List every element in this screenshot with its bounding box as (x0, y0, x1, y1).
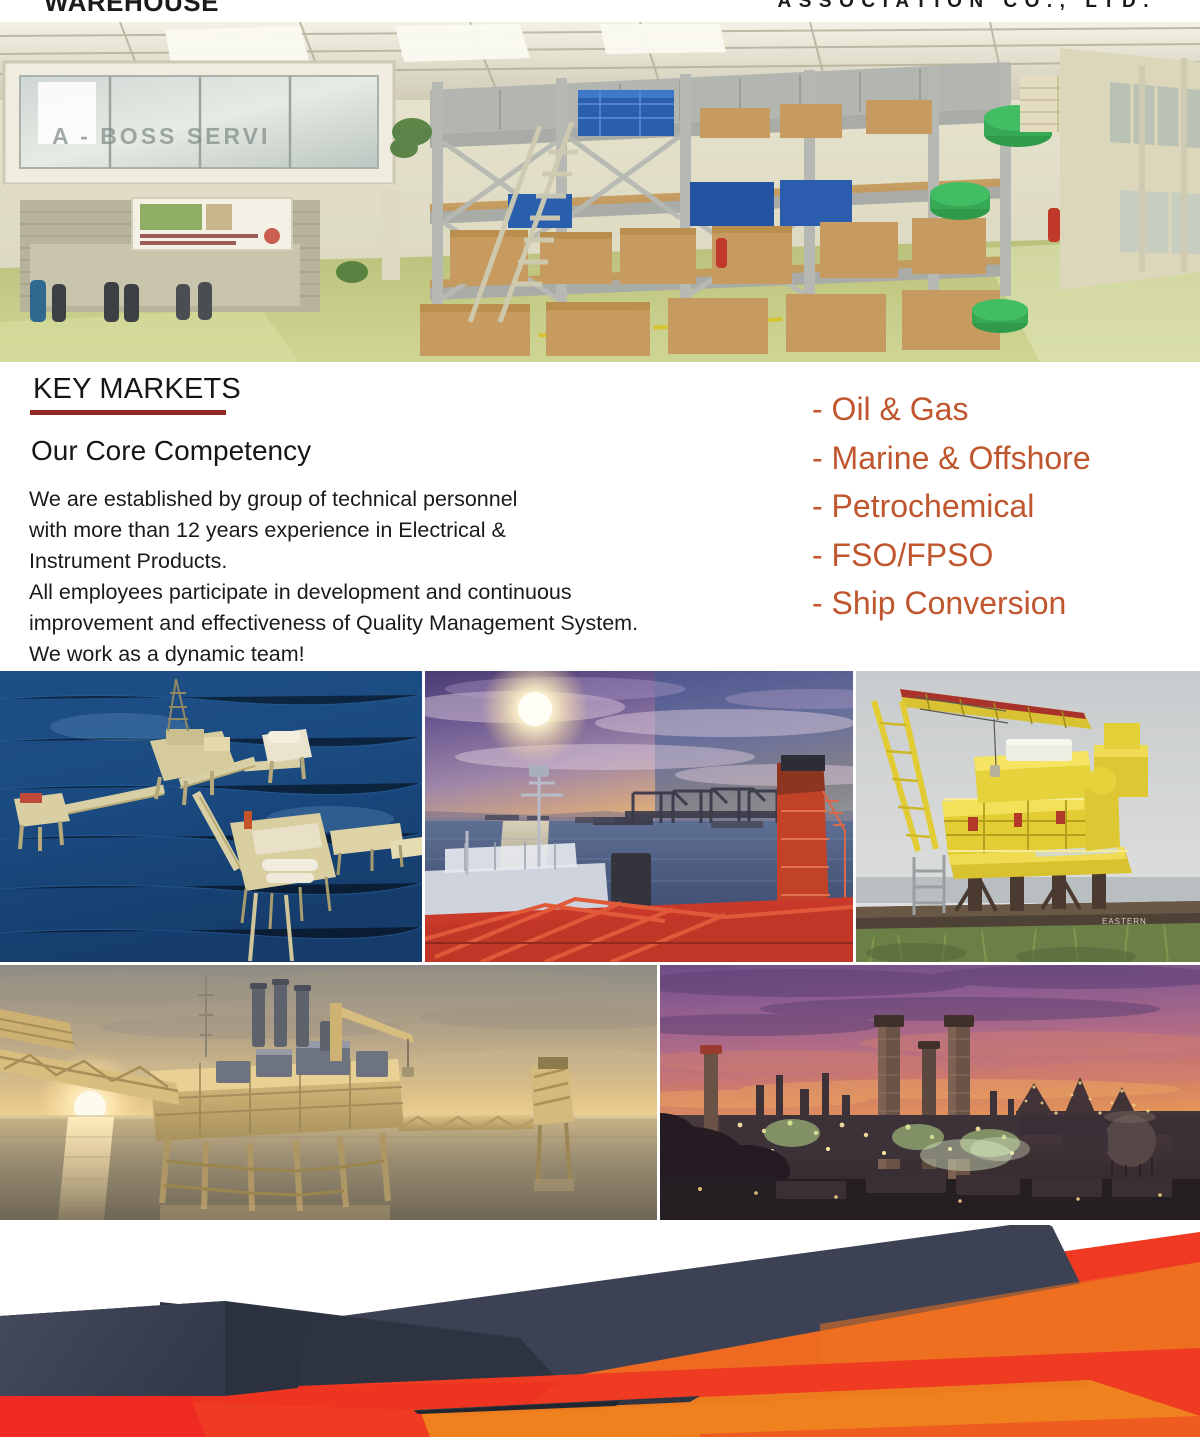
masthead-left-text: WAREHOUSE (44, 0, 219, 18)
market-item-petrochemical: - Petrochemical (812, 482, 1192, 531)
warehouse-interior-photo: A - BOSS SERVI (0, 22, 1200, 362)
market-item-marine-offshore: - Marine & Offshore (812, 434, 1192, 483)
body-line: We are established by group of technical… (29, 484, 749, 515)
market-item-ship-conversion: - Ship Conversion (812, 579, 1192, 628)
masthead: WAREHOUSE ASSOCIATION CO., LTD. (0, 0, 1200, 22)
body-line: improvement and effectiveness of Quality… (29, 608, 749, 639)
section-subtitle: Our Core Competency (31, 435, 311, 467)
svg-text:A - BOSS SERVI: A - BOSS SERVI (52, 123, 270, 149)
masthead-right-text: ASSOCIATION CO., LTD. (778, 0, 1156, 13)
title-underline (30, 410, 226, 415)
body-line: with more than 12 years experience in El… (29, 515, 749, 546)
core-competency-paragraph: We are established by group of technical… (29, 484, 749, 670)
body-line: All employees participate in development… (29, 577, 749, 608)
offshore-platform-aerial-photo (0, 671, 422, 962)
decorative-geometric-footer (0, 1220, 1200, 1437)
brochure-page: WAREHOUSE ASSOCIATION CO., LTD. (0, 0, 1200, 1437)
body-line: Instrument Products. (29, 546, 749, 577)
key-markets-section: KEY MARKETS Our Core Competency We are e… (0, 362, 1200, 670)
project-gallery: EASTERN (0, 671, 1200, 1220)
market-item-fso-fpso: - FSO/FPSO (812, 531, 1192, 580)
key-markets-list: - Oil & Gas - Marine & Offshore - Petroc… (812, 385, 1192, 628)
body-line: We work as a dynamic team! (29, 639, 749, 670)
yellow-jacket-platform-photo: EASTERN (856, 671, 1200, 962)
market-item-oil-gas: - Oil & Gas (812, 385, 1192, 434)
oil-rig-sunset-photo (0, 965, 657, 1220)
port-sunset-vessel-photo (425, 671, 853, 962)
page-title: KEY MARKETS (33, 373, 241, 406)
petrochemical-refinery-photo (660, 965, 1200, 1220)
